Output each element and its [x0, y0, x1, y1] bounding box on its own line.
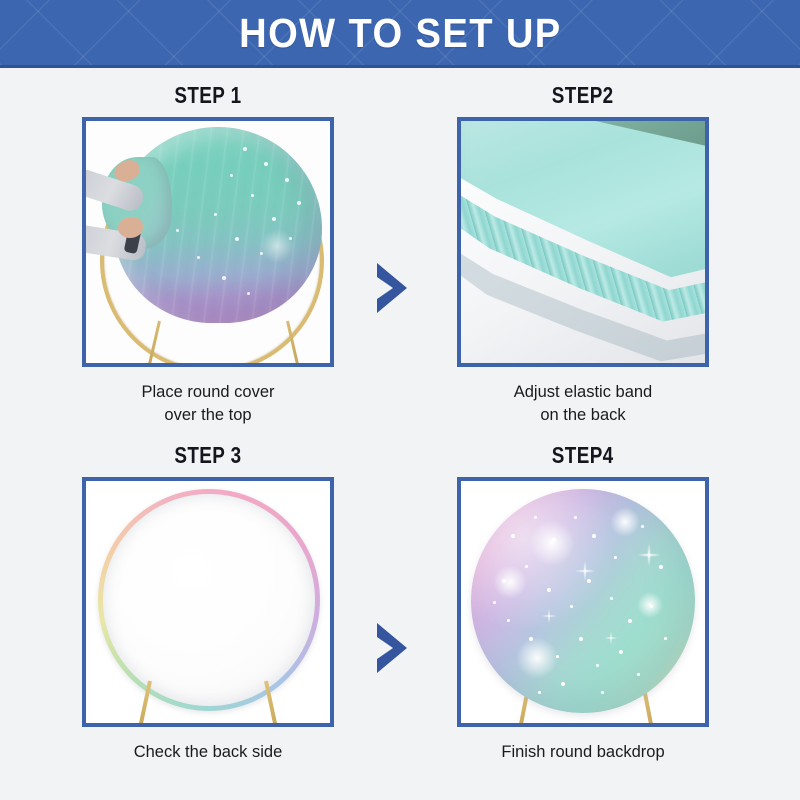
step-caption-4: Finish round backdrop: [501, 741, 664, 764]
step-label-4: STEP4: [552, 442, 614, 468]
step-photo-2: [461, 121, 705, 363]
chevron-right-icon-bottom: [375, 621, 409, 675]
step-caption-2: Adjust elastic band on the back: [514, 381, 653, 427]
step-photo-1: [86, 121, 330, 363]
stand-leg-left: [146, 321, 161, 363]
step-image-frame-4: [457, 477, 709, 727]
step-caption-1: Place round cover over the top: [142, 381, 275, 427]
chevron-right-icon-top: [375, 261, 409, 315]
step-photo-3: [86, 481, 330, 723]
step-photo-4: [461, 481, 705, 723]
step-card-4: STEP4: [455, 442, 711, 764]
infographic-page: HOW TO SET UP STEP 1: [0, 0, 800, 800]
backdrop-back-side: [98, 489, 320, 711]
steps-grid: STEP 1: [0, 68, 800, 800]
step-label-3: STEP 3: [174, 442, 241, 468]
step-image-frame-2: [457, 117, 709, 367]
step-card-2: STEP2 Adjust elastic band on the back: [455, 82, 711, 427]
step-label-1: STEP 1: [174, 82, 241, 108]
finished-backdrop: [471, 489, 695, 713]
white-back-surface: [103, 494, 315, 706]
step-label-2: STEP2: [552, 82, 614, 108]
page-header: HOW TO SET UP: [0, 0, 800, 68]
step-card-3: STEP 3 Check the back side: [80, 442, 336, 764]
step-card-1: STEP 1: [80, 82, 336, 427]
step-image-frame-1: [82, 117, 334, 367]
page-title: HOW TO SET UP: [239, 12, 561, 54]
step-caption-3: Check the back side: [134, 741, 283, 764]
step-image-frame-3: [82, 477, 334, 727]
